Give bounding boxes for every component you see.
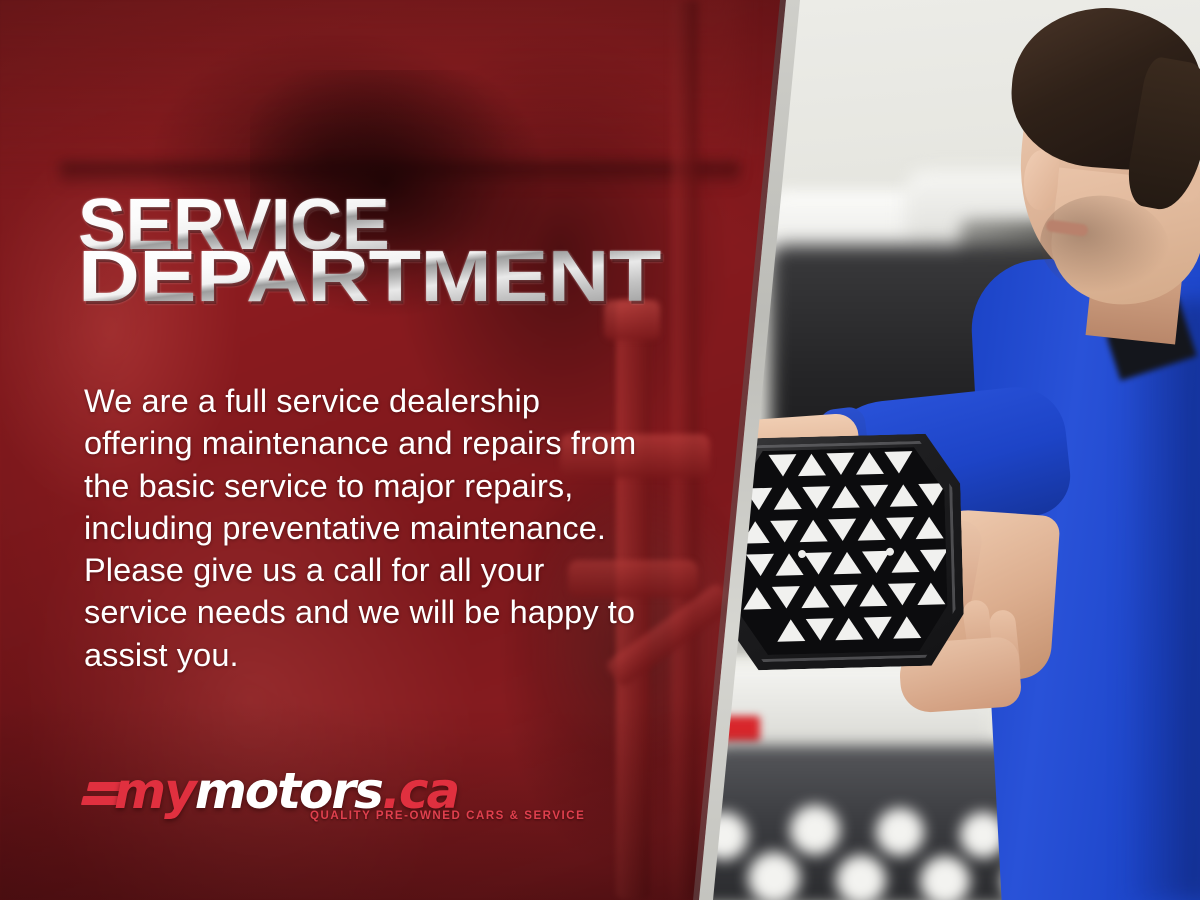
triangle-cutout: [833, 552, 862, 575]
triangle-cutout: [888, 583, 917, 606]
mymotors-logo[interactable]: mymotors.ca QUALITY PRE-OWNED CARS & SER…: [82, 766, 522, 852]
page-title: SERVICE DEPARTMENT: [78, 196, 568, 307]
bokeh-circle: [876, 808, 924, 856]
triangle-cutout: [806, 618, 835, 641]
bokeh-circle: [836, 855, 886, 900]
triangle-cutout: [864, 617, 893, 640]
logo-tagline: QUALITY PRE-OWNED CARS & SERVICE: [310, 810, 585, 822]
triangle-cutout: [891, 550, 920, 573]
service-department-banner: SERVICE DEPARTMENT We are a full service…: [0, 0, 1200, 900]
air-filter-panel: [719, 433, 965, 671]
triangle-cutout: [915, 516, 944, 539]
triangle-cutout: [777, 619, 806, 642]
panel-content: SERVICE DEPARTMENT We are a full service…: [0, 0, 700, 900]
headline-line-2: DEPARTMENT: [78, 248, 661, 307]
bokeh-circle: [748, 852, 800, 900]
triangle-cutout: [893, 616, 922, 639]
triangle-cutout-grid: [733, 446, 948, 655]
triangle-cutout: [857, 518, 886, 541]
triangle-cutout: [860, 485, 889, 508]
triangle-cutout: [802, 486, 831, 509]
triangle-cutout: [746, 554, 775, 577]
triangle-cutout: [804, 552, 833, 575]
triangle-cutout: [859, 584, 888, 607]
triangle-cutout: [886, 517, 915, 540]
triangle-cutout: [884, 451, 913, 474]
description-text: We are a full service dealership offerin…: [84, 380, 644, 676]
triangle-cutout: [889, 484, 918, 507]
triangle-cutout: [830, 585, 859, 608]
triangle-cutout: [770, 520, 799, 543]
triangle-cutout: [828, 519, 857, 542]
triangle-cutout: [797, 453, 826, 476]
triangle-cutout: [801, 585, 830, 608]
triangle-cutout: [917, 582, 946, 605]
triangle-cutout: [831, 486, 860, 509]
air-filter-mesh: [733, 446, 948, 655]
triangle-cutout: [743, 587, 772, 610]
triangle-cutout: [826, 453, 855, 476]
coveralls-shadow: [1120, 300, 1200, 900]
bokeh-circle: [920, 856, 970, 900]
triangle-cutout: [920, 549, 949, 572]
triangle-cutout: [768, 454, 797, 477]
triangle-cutout: [799, 519, 828, 542]
triangle-cutout: [835, 617, 864, 640]
bokeh-circle: [790, 805, 840, 855]
triangle-cutout: [772, 586, 801, 609]
triangle-cutout: [773, 487, 802, 510]
logo-text-my: my: [114, 762, 195, 820]
triangle-cutout: [855, 452, 884, 475]
